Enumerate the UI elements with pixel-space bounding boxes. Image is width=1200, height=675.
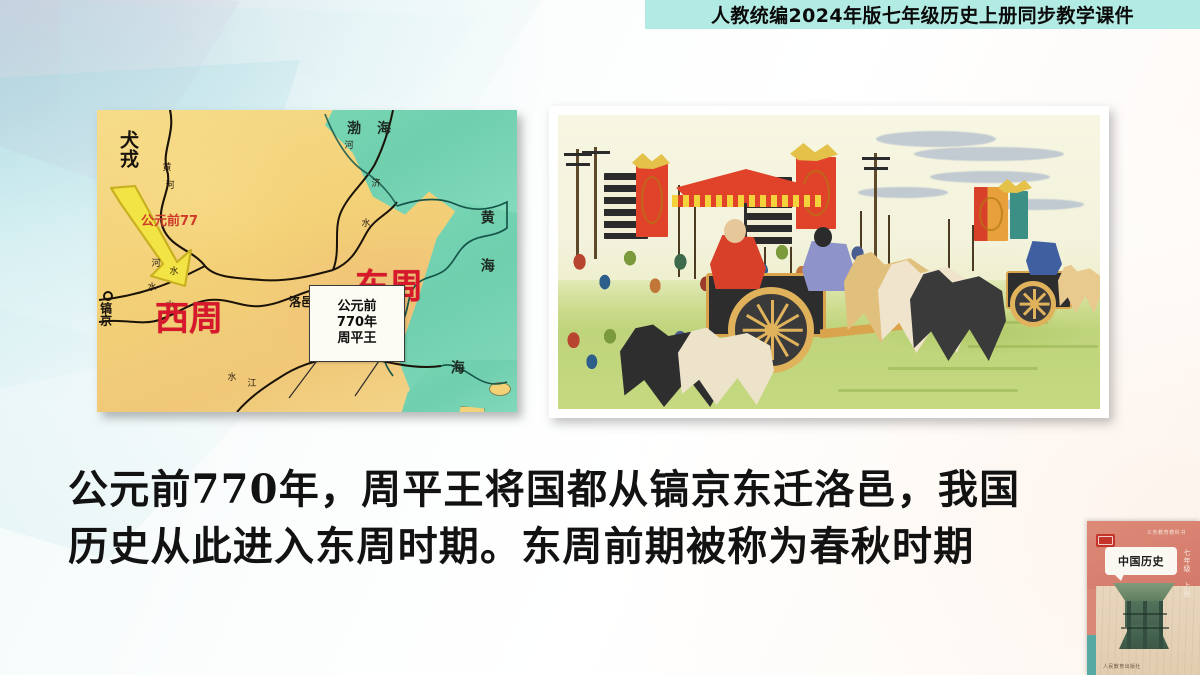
flag-pole-crossbar xyxy=(582,151,610,154)
flag-pole-crossbar xyxy=(862,157,890,160)
cloud xyxy=(876,131,996,147)
canopy-fringe xyxy=(672,195,822,207)
banner-motif xyxy=(979,197,1002,232)
map-label-yellow-sea: 黄海 xyxy=(479,210,494,306)
teal-banner xyxy=(1010,191,1028,239)
map-label-bohai-sea: 渤海 xyxy=(347,122,407,137)
callout-line-1: 公元前 xyxy=(337,300,376,315)
flag-pole-crossbar xyxy=(566,163,590,166)
flag-pole-crossbar xyxy=(864,167,888,170)
grass-streak xyxy=(888,367,1038,370)
map-river-label: 河 xyxy=(342,140,351,149)
map-river-label: 江 xyxy=(245,378,254,387)
cover-title: 中国历史 xyxy=(1105,553,1177,569)
second-chariot-wheel xyxy=(1010,281,1056,327)
second-chariot-rider xyxy=(1026,241,1062,275)
vessel-flange xyxy=(1143,601,1147,649)
header-banner: 人教统编2024年版七年级历史上册同步教学课件 xyxy=(645,0,1200,29)
map-river-label: 水 xyxy=(359,218,368,227)
cloud xyxy=(914,147,1064,161)
illustration-zhou-royal-procession xyxy=(549,106,1109,418)
attendant-figure-head xyxy=(814,227,832,247)
invasion-arrow-icon xyxy=(105,182,195,292)
vessel-flange xyxy=(1159,601,1163,649)
map-callout-box: 公元前 770年 周平王 xyxy=(309,285,405,362)
presentation-slide: 人教统编2024年版七年级历史上册同步教学课件 xyxy=(0,0,1200,675)
map-label-east-sea: 海 xyxy=(449,360,464,374)
grass-streak xyxy=(838,389,1018,392)
map-label-haojing: 镐京 xyxy=(99,302,112,326)
banner-motif xyxy=(641,176,663,223)
courseware-title: 人教统编2024年版七年级历史上册同步教学课件 xyxy=(711,1,1134,28)
map-label-western-zhou: 西周 xyxy=(155,302,223,338)
vessel-ridge xyxy=(1123,613,1167,615)
map-image-western-eastern-zhou: 犬戎 公元前77 渤海 黄海 黄 河 河 水 水 河 济 水 淮 水 江 长 江… xyxy=(97,110,517,412)
map-river-label: 水 xyxy=(167,266,176,275)
cover-series-line: 义务教育教科书 xyxy=(1147,529,1186,536)
cover-grade-label: 七年级 上册 xyxy=(1182,549,1192,598)
map-river-label: 黄 xyxy=(160,162,169,171)
map-river-label: 水 xyxy=(145,282,154,291)
red-banner xyxy=(974,187,1008,241)
body-text-line-2: 历史从此进入东周时期。东周前期被称为春秋时期 xyxy=(68,519,1128,576)
map-river-label: 济 xyxy=(369,178,378,187)
textbook-cover-image: 义务教育教科书 中国历史 七年级 上册 人民教育出版社 xyxy=(1087,521,1200,675)
map-label-quanrong: 犬戎 xyxy=(117,130,137,168)
illustration-canvas xyxy=(558,115,1100,409)
vessel-flange xyxy=(1127,601,1131,649)
cover-title-bubble: 中国历史 xyxy=(1105,547,1177,575)
spear xyxy=(888,215,890,271)
cloud xyxy=(858,187,948,198)
map-river-label: 河 xyxy=(163,180,172,189)
cloud xyxy=(930,171,1050,183)
body-text-line-1: 公元前770年，周平王将国都从镐京东迁洛邑，我国 xyxy=(68,462,1128,519)
map-river-label: 河 xyxy=(149,258,158,267)
slide-body-text: 公元前770年，周平王将国都从镐京东迁洛邑，我国 历史从此进入东周时期。东周前期… xyxy=(68,462,1128,576)
vessel-ridge xyxy=(1121,627,1169,629)
cover-publisher: 人民教育出版社 xyxy=(1103,663,1141,670)
cover-seal-icon xyxy=(1096,534,1115,547)
spear xyxy=(948,219,950,271)
king-figure-head xyxy=(724,219,746,243)
map-label-red-date: 公元前77 xyxy=(141,215,198,229)
map-river-label: 水 xyxy=(225,372,234,381)
cover-spine-accent xyxy=(1087,635,1096,675)
bronze-vessel-illustration xyxy=(1113,583,1175,649)
callout-line-3: 周平王 xyxy=(337,332,376,347)
callout-line-2: 770年 xyxy=(337,316,377,331)
callout-leader-lines xyxy=(285,358,425,402)
wheel-hub xyxy=(765,324,778,337)
vessel-mouth xyxy=(1113,583,1175,603)
city-marker-haojing xyxy=(103,291,113,301)
